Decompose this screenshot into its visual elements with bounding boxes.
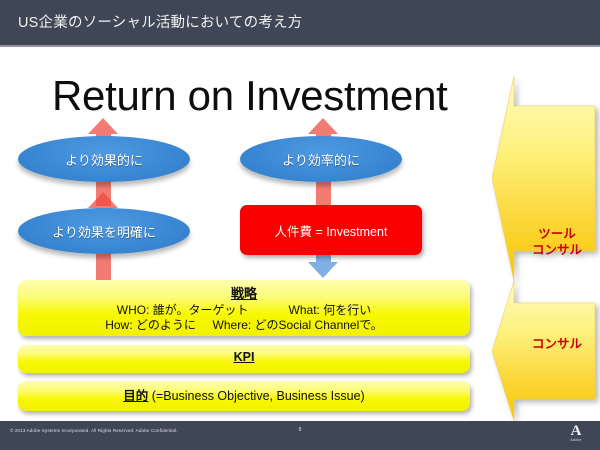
- page-number: 8: [0, 427, 600, 433]
- side-arrow-label-line1: コンサル: [514, 336, 600, 352]
- slide-canvas: US企業のソーシャル活動においての考え方 Return on Investmen…: [0, 0, 600, 450]
- strategy-title: 戦略: [231, 283, 257, 302]
- ellipse-clarify-effect: より効果を明確に: [18, 208, 190, 254]
- side-arrow-tool-consulting: ツール コンサル: [492, 76, 600, 281]
- purpose-title: 目的: [123, 389, 148, 403]
- strategy-line-2: How: どのように Where: どのSocial Channelで。: [18, 318, 470, 333]
- side-arrow-label-bottom: コンサル: [514, 336, 600, 352]
- investment-label: 人件費 = Investment: [275, 221, 388, 240]
- purpose-detail: (=Business Objective, Business Issue): [148, 389, 364, 403]
- purpose-box: 目的 (=Business Objective, Business Issue): [18, 381, 470, 411]
- ellipse-more-effective: より効果的に: [18, 136, 190, 182]
- slide-title: US企業のソーシャル活動においての考え方: [18, 11, 302, 32]
- side-arrow-label-line2: コンサル: [514, 242, 600, 258]
- strategy-box: 戦略 WHO: 誰が。ターゲット What: 何を行い How: どのように W…: [18, 280, 470, 336]
- investment-box: 人件費 = Investment: [240, 205, 422, 255]
- ellipse-more-efficient: より効率的に: [240, 136, 402, 182]
- footer-bar: [0, 421, 600, 450]
- adobe-wordmark: Adobe: [564, 438, 588, 443]
- ellipse-label: より効率的に: [282, 150, 360, 169]
- adobe-logo: A Adobe: [564, 424, 588, 443]
- side-arrow-label-top: ツール コンサル: [514, 226, 600, 258]
- side-arrow-label-line1: ツール: [514, 226, 600, 242]
- ellipse-label: より効果的に: [65, 150, 143, 169]
- page-heading: Return on Investment: [52, 72, 448, 120]
- header-divider: [0, 45, 600, 47]
- ellipse-label: より効果を明確に: [52, 222, 156, 241]
- purpose-line: 目的 (=Business Objective, Business Issue): [18, 381, 470, 411]
- strategy-line-1: WHO: 誰が。ターゲット What: 何を行い: [18, 303, 470, 318]
- side-arrow-consulting: コンサル: [492, 281, 600, 421]
- kpi-title: KPI: [234, 350, 255, 364]
- adobe-a-icon: A: [564, 424, 588, 438]
- kpi-box: KPI: [18, 345, 470, 373]
